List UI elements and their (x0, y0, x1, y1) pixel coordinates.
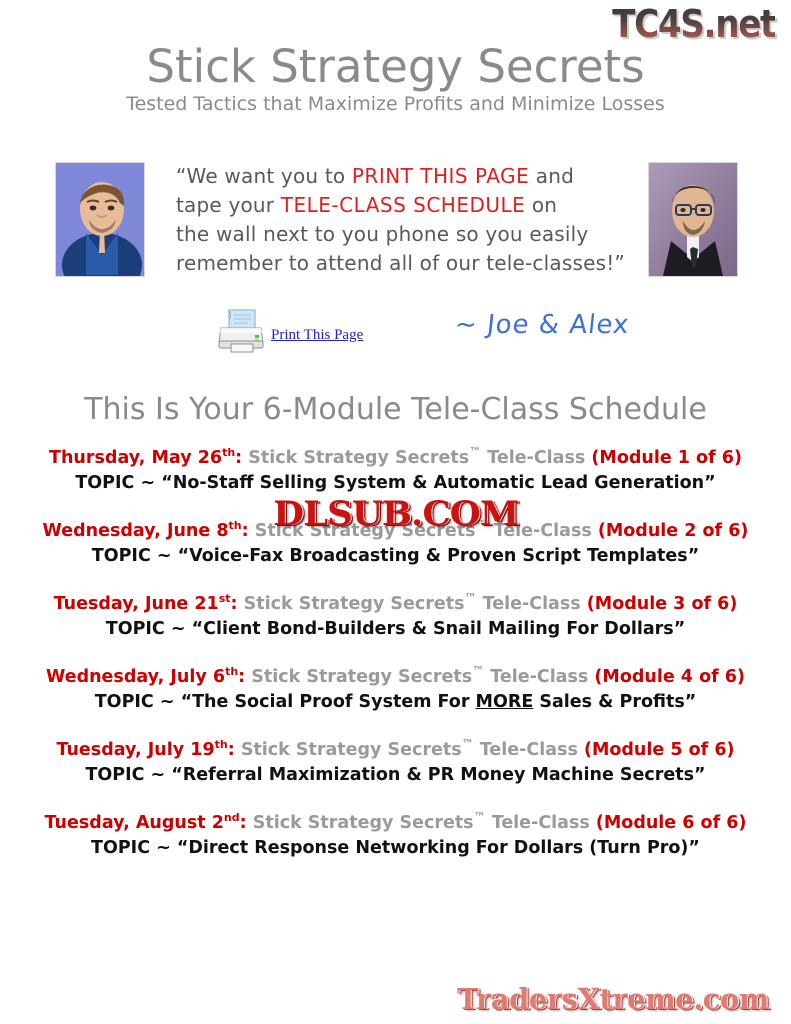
module-date: Tuesday, July 19 (56, 740, 214, 760)
quote-line-1-text-b: and (529, 164, 574, 188)
topic-text-after: Sales & Profits” (533, 692, 696, 712)
module-number-label: (Module 1 of 6) (591, 448, 742, 468)
quote-line-4: remember to attend all of our tele-class… (176, 249, 636, 278)
module-date-ordinal: st (219, 592, 231, 605)
module-row: Wednesday, June 8th: Stick Strategy Secr… (0, 520, 791, 569)
module-date-ordinal: nd (224, 811, 240, 824)
topic-text: “Client Bond-Builders & Snail Mailing Fo… (192, 619, 686, 639)
quote-line-3: the wall next to you phone so you easily (176, 220, 636, 249)
module-row: Tuesday, June 21st: Stick Strategy Secre… (0, 593, 791, 642)
module-class-suffix: Tele-Class (486, 813, 596, 833)
page-title: Stick Strategy Secrets (0, 40, 791, 93)
photo-alex (648, 162, 738, 277)
module-line-title: Wednesday, July 6th: Stick Strategy Secr… (0, 666, 791, 689)
module-date: Wednesday, July 6 (46, 667, 225, 687)
module-class-name: Stick Strategy Secrets (248, 448, 469, 468)
module-date-ordinal: th (229, 519, 242, 532)
module-date-ordinal: th (225, 665, 238, 678)
signature-joe-and-alex: ~ Joe & Alex (453, 310, 631, 340)
topic-text: “The Social Proof System For (181, 692, 476, 712)
module-date: Wednesday, June 8 (43, 521, 229, 541)
module-number-label: (Module 6 of 6) (596, 813, 747, 833)
quote-line-1: “We want you to PRINT THIS PAGE and (176, 162, 636, 191)
module-line-title: Thursday, May 26th: Stick Strategy Secre… (0, 447, 791, 470)
photo-joe (55, 162, 145, 277)
module-list: Thursday, May 26th: Stick Strategy Secre… (0, 447, 791, 885)
printer-icon[interactable] (215, 308, 267, 354)
module-line-title: Tuesday, June 21st: Stick Strategy Secre… (0, 593, 791, 616)
module-date: Tuesday, August 2 (45, 813, 224, 833)
trademark-symbol: ™ (465, 591, 477, 605)
topic-text: “Voice-Fax Broadcasting & Proven Script … (178, 546, 700, 566)
print-this-page-row[interactable]: Print This Page (215, 308, 363, 354)
module-number-label: (Module 3 of 6) (587, 594, 738, 614)
module-topic: TOPIC ~ “Direct Response Networking For … (0, 835, 791, 861)
topic-text: “Direct Response Networking For Dollars … (177, 838, 700, 858)
quote-line-1-text-a: “We want you to (176, 164, 352, 188)
module-class-suffix: Tele-Class (481, 448, 591, 468)
module-topic: TOPIC ~ “No-Staff Selling System & Autom… (0, 470, 791, 496)
module-topic: TOPIC ~ “The Social Proof System For MOR… (0, 689, 791, 715)
trademark-symbol: ™ (472, 664, 484, 678)
module-line-title: Tuesday, August 2nd: Stick Strategy Secr… (0, 812, 791, 835)
quote-highlight-print-this-page: PRINT THIS PAGE (352, 164, 529, 188)
module-date-separator: : (240, 813, 247, 833)
quote-line-2-text-a: tape your (176, 193, 281, 217)
print-this-page-link[interactable]: Print This Page (271, 327, 363, 344)
quote-block: “We want you to PRINT THIS PAGE and tape… (176, 162, 636, 278)
module-date-separator: : (238, 667, 245, 687)
module-class-name: Stick Strategy Secrets (241, 740, 462, 760)
module-date-separator: : (242, 521, 249, 541)
quote-line-2-text-b: on (525, 193, 557, 217)
topic-prefix: TOPIC ~ (91, 838, 177, 858)
module-row: Wednesday, July 6th: Stick Strategy Secr… (0, 666, 791, 715)
trademark-symbol: ™ (462, 737, 474, 751)
module-class-name: Stick Strategy Secrets (244, 594, 465, 614)
page-subtitle: Tested Tactics that Maximize Profits and… (0, 93, 791, 115)
schedule-heading: This Is Your 6-Module Tele-Class Schedul… (0, 392, 791, 427)
module-class-suffix: Tele-Class (474, 740, 584, 760)
topic-prefix: TOPIC ~ (95, 692, 181, 712)
module-date: Tuesday, June 21 (54, 594, 219, 614)
module-number-label: (Module 4 of 6) (594, 667, 745, 687)
topic-text: “Referral Maximization & PR Money Machin… (171, 765, 705, 785)
module-date-ordinal: th (215, 738, 228, 751)
module-date-separator: : (235, 448, 242, 468)
topic-emphasis: MORE (476, 692, 534, 712)
module-row: Tuesday, August 2nd: Stick Strategy Secr… (0, 812, 791, 861)
trademark-symbol: ™ (476, 518, 488, 532)
module-row: Thursday, May 26th: Stick Strategy Secre… (0, 447, 791, 496)
module-topic: TOPIC ~ “Voice-Fax Broadcasting & Proven… (0, 543, 791, 569)
module-topic: TOPIC ~ “Referral Maximization & PR Mone… (0, 762, 791, 788)
module-class-name: Stick Strategy Secrets (253, 813, 474, 833)
module-date-ordinal: th (222, 446, 235, 459)
flyer-page: TC4S.net TC4S.net Stick Strategy Secrets… (0, 0, 791, 1024)
module-class-suffix: Tele-Class (488, 521, 598, 541)
topic-prefix: TOPIC ~ (92, 546, 178, 566)
trademark-symbol: ™ (474, 810, 486, 824)
module-number-label: (Module 2 of 6) (598, 521, 749, 541)
module-number-label: (Module 5 of 6) (584, 740, 735, 760)
module-topic: TOPIC ~ “Client Bond-Builders & Snail Ma… (0, 616, 791, 642)
module-line-title: Wednesday, June 8th: Stick Strategy Secr… (0, 520, 791, 543)
module-date-separator: : (231, 594, 238, 614)
topic-text: “No-Staff Selling System & Automatic Lea… (161, 473, 715, 493)
module-class-name: Stick Strategy Secrets (251, 667, 472, 687)
portrait-left-icon (56, 163, 144, 276)
module-row: Tuesday, July 19th: Stick Strategy Secre… (0, 739, 791, 788)
module-date: Thursday, May 26 (49, 448, 222, 468)
quote-highlight-tele-class-schedule: TELE-CLASS SCHEDULE (281, 193, 526, 217)
quote-line-2: tape your TELE-CLASS SCHEDULE on (176, 191, 636, 220)
topic-prefix: TOPIC ~ (85, 765, 171, 785)
brand-logo: TC4S.net (612, 4, 775, 44)
module-class-suffix: Tele-Class (484, 667, 594, 687)
module-line-title: Tuesday, July 19th: Stick Strategy Secre… (0, 739, 791, 762)
module-class-suffix: Tele-Class (477, 594, 587, 614)
footer-logo: TradersXtreme.com (457, 982, 769, 1016)
topic-prefix: TOPIC ~ (106, 619, 192, 639)
module-date-separator: : (228, 740, 235, 760)
module-class-name: Stick Strategy Secrets (255, 521, 476, 541)
trademark-symbol: ™ (469, 445, 481, 459)
portrait-right-icon (649, 163, 737, 276)
topic-prefix: TOPIC ~ (75, 473, 161, 493)
